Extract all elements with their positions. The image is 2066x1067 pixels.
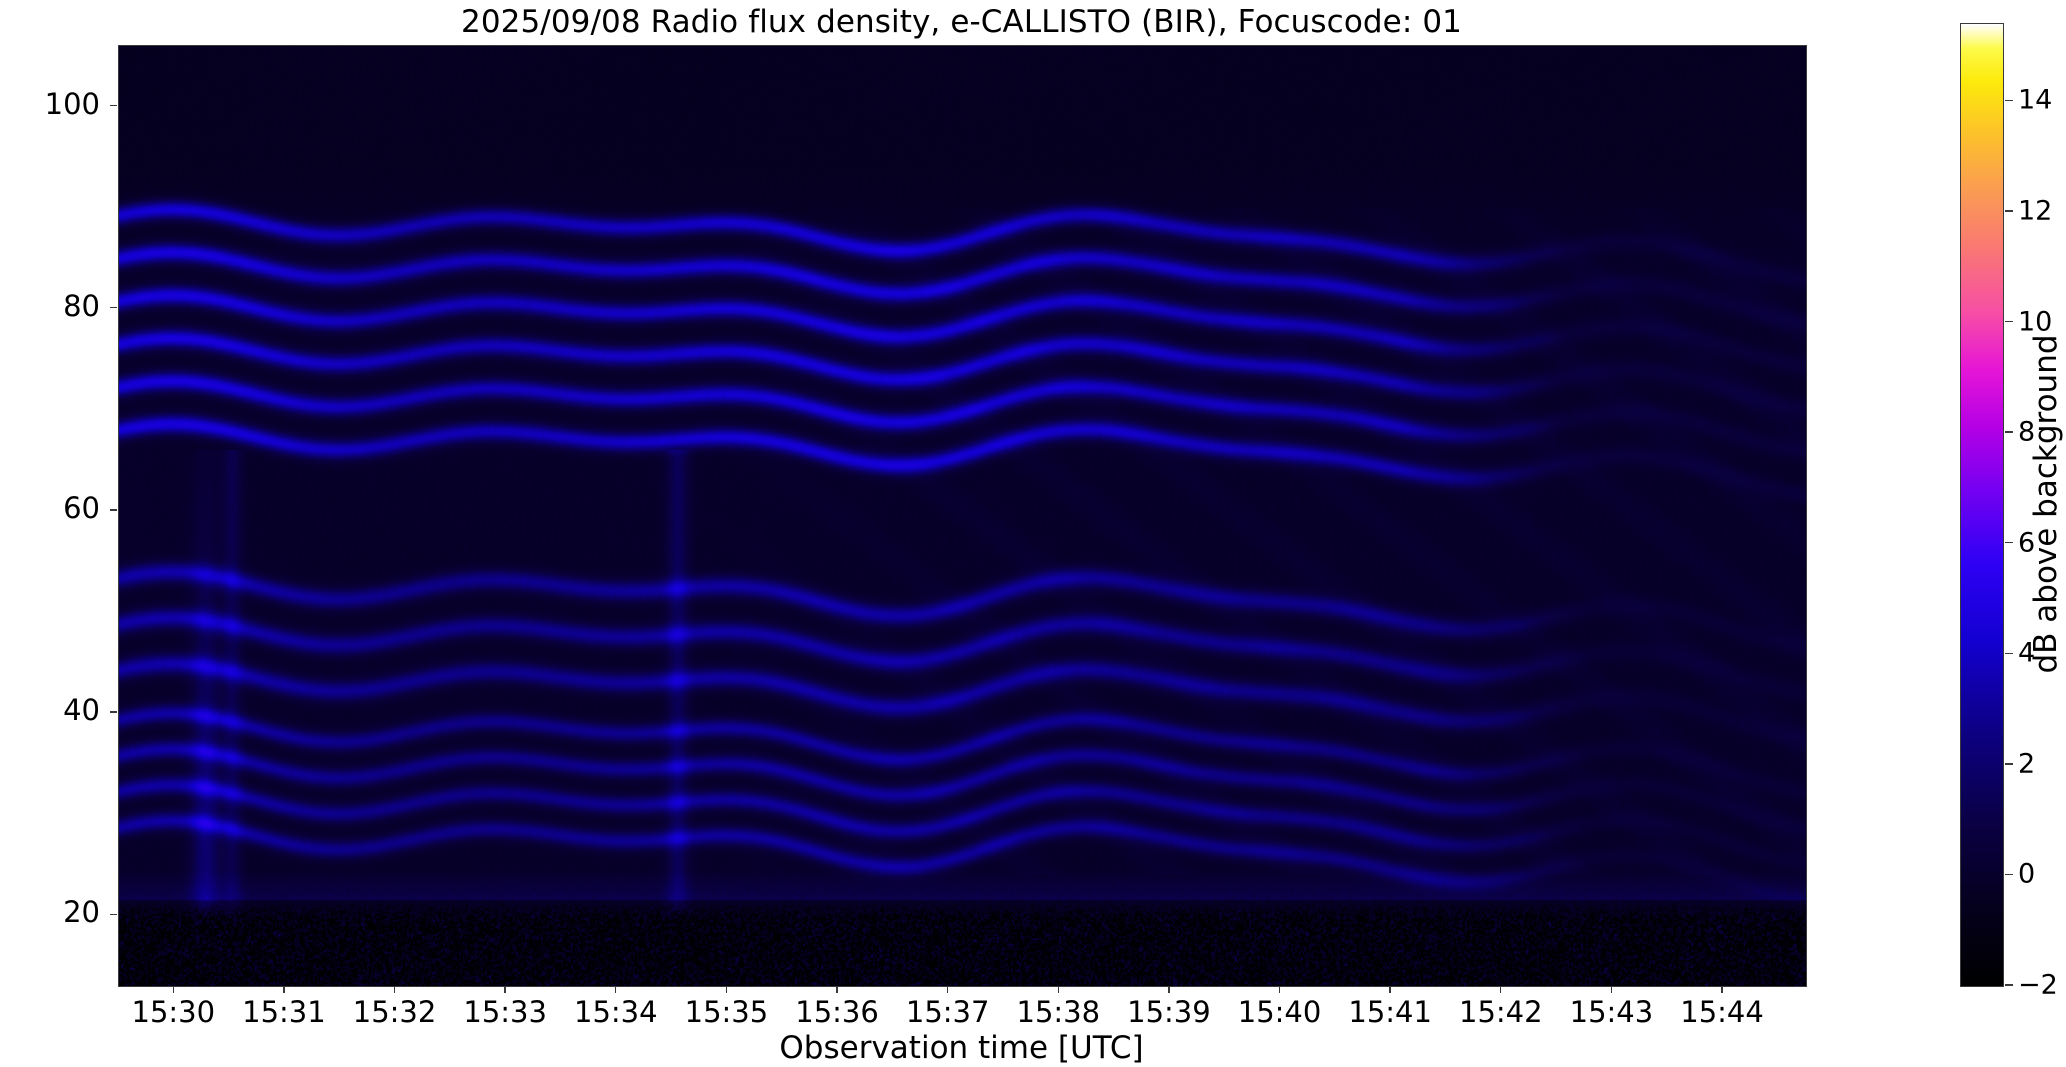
x-tick-mark bbox=[1279, 986, 1280, 993]
colorbar-tick-mark bbox=[2005, 100, 2013, 101]
spectrogram-axes[interactable] bbox=[118, 45, 1807, 987]
colorbar-tick-mark bbox=[2005, 321, 2013, 322]
x-tick-label: 15:34 bbox=[574, 995, 658, 1029]
x-tick-label: 15:35 bbox=[685, 995, 769, 1029]
y-tick-mark bbox=[110, 509, 117, 510]
x-tick-mark bbox=[726, 986, 727, 993]
x-tick-label: 15:32 bbox=[353, 995, 437, 1029]
colorbar-tick-mark bbox=[2005, 210, 2013, 211]
colorbar-tick-mark bbox=[2005, 431, 2013, 432]
colorbar-tick-mark bbox=[2005, 542, 2013, 543]
y-tick-label: 20 bbox=[0, 895, 100, 929]
x-tick-label: 15:40 bbox=[1238, 995, 1322, 1029]
x-tick-mark bbox=[1168, 986, 1169, 993]
y-tick-mark bbox=[110, 914, 117, 915]
x-tick-label: 15:43 bbox=[1570, 995, 1654, 1029]
x-tick-label: 15:38 bbox=[1016, 995, 1100, 1029]
x-tick-mark bbox=[504, 986, 505, 993]
y-tick-mark bbox=[110, 711, 117, 712]
x-tick-mark bbox=[836, 986, 837, 993]
y-tick-mark bbox=[110, 307, 117, 308]
y-tick-label: 100 bbox=[0, 87, 100, 121]
colorbar-tick-mark bbox=[2005, 763, 2013, 764]
colorbar-tick-mark bbox=[2005, 653, 2013, 654]
page-title: 2025/09/08 Radio flux density, e-CALLIST… bbox=[0, 4, 1923, 40]
colorbar-tick-mark bbox=[2005, 874, 2013, 875]
x-tick-mark bbox=[394, 986, 395, 993]
x-tick-mark bbox=[1389, 986, 1390, 993]
colorbar-label: dB above background bbox=[2028, 334, 2064, 673]
x-tick-label: 15:33 bbox=[463, 995, 547, 1029]
colorbar-gradient bbox=[1961, 24, 2003, 986]
x-tick-mark bbox=[173, 986, 174, 993]
spectrogram-image bbox=[119, 46, 1806, 986]
x-tick-mark bbox=[1500, 986, 1501, 993]
x-tick-mark bbox=[1611, 986, 1612, 993]
colorbar-tick-mark bbox=[2005, 984, 2013, 985]
x-tick-mark bbox=[283, 986, 284, 993]
y-tick-label: 40 bbox=[0, 693, 100, 727]
x-tick-mark bbox=[1721, 986, 1722, 993]
colorbar-label-container: dB above background bbox=[2026, 23, 2066, 985]
colorbar[interactable] bbox=[1960, 23, 2004, 987]
x-tick-mark bbox=[1058, 986, 1059, 993]
x-tick-mark bbox=[947, 986, 948, 993]
x-axis-label: Observation time [UTC] bbox=[118, 1030, 1805, 1066]
y-tick-label: 80 bbox=[0, 289, 100, 323]
x-tick-label: 15:39 bbox=[1127, 995, 1211, 1029]
x-tick-label: 15:31 bbox=[242, 995, 326, 1029]
x-tick-label: 15:44 bbox=[1680, 995, 1764, 1029]
x-tick-mark bbox=[615, 986, 616, 993]
x-tick-label: 15:36 bbox=[795, 995, 879, 1029]
x-tick-label: 15:41 bbox=[1348, 995, 1432, 1029]
y-tick-label: 60 bbox=[0, 491, 100, 525]
x-tick-label: 15:30 bbox=[132, 995, 216, 1029]
y-tick-mark bbox=[110, 105, 117, 106]
x-tick-label: 15:42 bbox=[1459, 995, 1543, 1029]
x-tick-label: 15:37 bbox=[906, 995, 990, 1029]
figure-canvas: 2025/09/08 Radio flux density, e-CALLIST… bbox=[0, 0, 2066, 1067]
